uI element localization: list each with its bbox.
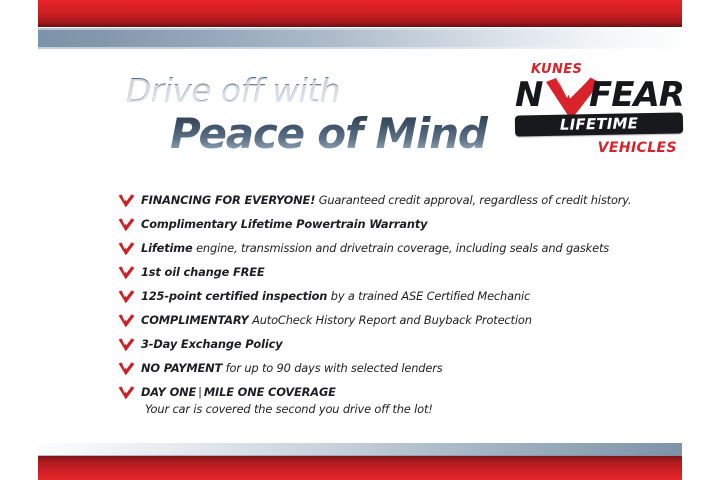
list-item: COMPLIMENTARY AutoCheck History Report a… xyxy=(118,312,638,331)
headline-line-2: Peace of Mind xyxy=(170,113,495,155)
top-gray-band xyxy=(38,28,682,49)
list-item-strong: Complimentary Lifetime Powertrain Warran… xyxy=(141,217,427,231)
headline: Drive off with Peace of Mind xyxy=(126,74,495,155)
list-item-text: COMPLIMENTARY AutoCheck History Report a… xyxy=(141,312,638,328)
list-item-strong: Lifetime xyxy=(141,241,193,255)
list-item-text: 1st oil change FREE xyxy=(141,264,638,280)
list-item-rest: by a trained ASE Certified Mechanic xyxy=(327,289,530,303)
red-check-icon xyxy=(118,242,135,256)
list-item: 3-Day Exchange Policy xyxy=(118,336,638,355)
list-item-rest: for up to 90 days with selected lenders xyxy=(222,361,442,375)
headline-line-1: Drive off with xyxy=(126,74,495,107)
bottom-red-band xyxy=(38,456,682,480)
list-item-strong: 125-point certified inspection xyxy=(141,289,327,303)
logo-certified-bar: LIFETIME CERTIFIED xyxy=(515,112,683,136)
top-red-band xyxy=(38,0,682,27)
list-item: 125-point certified inspection by a trai… xyxy=(118,288,638,307)
red-check-icon xyxy=(118,266,135,280)
red-check-icon xyxy=(118,218,135,232)
list-item-text: 3-Day Exchange Policy xyxy=(141,336,638,352)
list-item-text: Lifetime engine, transmission and drivet… xyxy=(141,240,638,256)
list-item-strong: FINANCING FOR EVERYONE! xyxy=(141,193,315,207)
red-check-icon xyxy=(118,338,135,352)
logo-footer-vehicles: VEHICLES xyxy=(598,140,677,156)
list-item: NO PAYMENT for up to 90 days with select… xyxy=(118,360,638,379)
red-check-icon xyxy=(118,290,135,304)
list-item-text: 125-point certified inspection by a trai… xyxy=(141,288,638,304)
list-item-rest: Guaranteed credit approval, regardless o… xyxy=(315,193,631,207)
list-item: DAY ONE|MILE ONE COVERAGE Your car is co… xyxy=(118,384,638,417)
list-item-strong: NO PAYMENT xyxy=(141,361,222,375)
logo-certified-bar-text: LIFETIME CERTIFIED xyxy=(515,112,683,136)
list-item-rest: engine, transmission and drivetrain cove… xyxy=(193,241,609,255)
certified-vehicle-ad-card: Drive off with Peace of Mind KUNES N FEA… xyxy=(0,0,720,480)
list-item-strong: COMPLIMENTARY xyxy=(141,313,249,327)
list-item-rest: AutoCheck History Report and Buyback Pro… xyxy=(249,313,532,327)
logo-wordmark: N FEAR xyxy=(513,78,685,112)
list-item-subtext: Your car is covered the second you drive… xyxy=(145,401,638,417)
kunes-no-fear-logo: KUNES N FEAR LIFETIME CERTIFIED VEHICLES xyxy=(513,62,685,162)
list-item: 1st oil change FREE xyxy=(118,264,638,283)
logo-letter-n: N xyxy=(515,78,542,112)
benefits-list: FINANCING FOR EVERYONE! Guaranteed credi… xyxy=(118,192,638,422)
red-check-icon xyxy=(118,386,135,400)
logo-word-fear: FEAR xyxy=(589,78,684,112)
list-item-text: FINANCING FOR EVERYONE! Guaranteed credi… xyxy=(141,192,638,208)
list-item: Complimentary Lifetime Powertrain Warran… xyxy=(118,216,638,235)
list-item-strong: DAY ONE xyxy=(141,385,196,399)
red-check-icon xyxy=(118,194,135,208)
list-item-strong: 1st oil change FREE xyxy=(141,265,264,279)
red-check-icon xyxy=(118,314,135,328)
list-item-text: Complimentary Lifetime Powertrain Warran… xyxy=(141,216,638,232)
list-item-divider: | xyxy=(196,385,204,399)
list-item-strong: 3-Day Exchange Policy xyxy=(141,337,282,351)
bottom-gray-band xyxy=(38,443,682,456)
list-item: Lifetime engine, transmission and drivet… xyxy=(118,240,638,259)
list-item-text: NO PAYMENT for up to 90 days with select… xyxy=(141,360,638,376)
list-item-text: DAY ONE|MILE ONE COVERAGE Your car is co… xyxy=(141,384,638,417)
list-item-strong-2: MILE ONE COVERAGE xyxy=(204,385,336,399)
list-item: FINANCING FOR EVERYONE! Guaranteed credi… xyxy=(118,192,638,211)
red-check-icon xyxy=(118,362,135,376)
